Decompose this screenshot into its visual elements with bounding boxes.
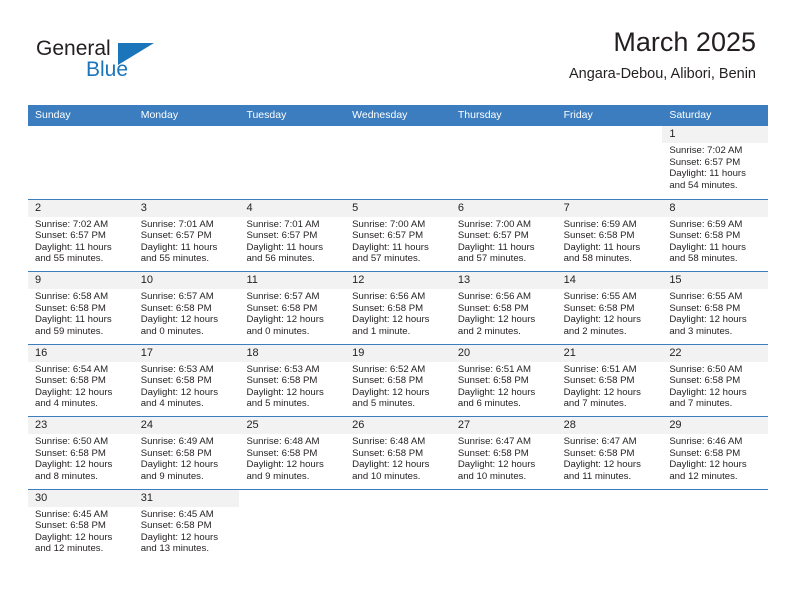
day-sun-info: Sunrise: 6:59 AMSunset: 6:58 PMDaylight:… [662,217,768,265]
weekday-header-saturday: Saturday [662,105,768,126]
sunset-text: Sunset: 6:58 PM [669,375,762,387]
calendar-day-cell-empty [662,490,768,571]
sunrise-text: Sunrise: 6:51 AM [564,364,657,376]
day-sun-info: Sunrise: 6:54 AMSunset: 6:58 PMDaylight:… [28,362,134,410]
daylight-text: Daylight: 12 hours and 7 minutes. [564,387,657,410]
day-number: 6 [451,200,557,217]
sunrise-text: Sunrise: 6:48 AM [352,436,445,448]
sunrise-text: Sunrise: 7:02 AM [669,145,762,157]
day-number: 19 [345,345,451,362]
daylight-text: Daylight: 11 hours and 54 minutes. [669,168,762,191]
day-sun-info: Sunrise: 7:00 AMSunset: 6:57 PMDaylight:… [345,217,451,265]
calendar-day-cell[interactable]: 31Sunrise: 6:45 AMSunset: 6:58 PMDayligh… [134,490,240,571]
day-number: 25 [239,417,345,434]
day-sun-info: Sunrise: 6:51 AMSunset: 6:58 PMDaylight:… [451,362,557,410]
daylight-text: Daylight: 12 hours and 0 minutes. [141,314,234,337]
day-sun-info: Sunrise: 7:01 AMSunset: 6:57 PMDaylight:… [134,217,240,265]
calendar-day-cell[interactable]: 23Sunrise: 6:50 AMSunset: 6:58 PMDayligh… [28,417,134,489]
day-number: 9 [28,272,134,289]
day-number [134,126,240,143]
day-sun-info: Sunrise: 6:50 AMSunset: 6:58 PMDaylight:… [662,362,768,410]
sunrise-text: Sunrise: 6:55 AM [669,291,762,303]
day-number: 3 [134,200,240,217]
sunrise-text: Sunrise: 6:50 AM [35,436,128,448]
day-sun-info: Sunrise: 7:02 AMSunset: 6:57 PMDaylight:… [662,143,768,191]
day-number: 14 [557,272,663,289]
calendar-week-row: 9Sunrise: 6:58 AMSunset: 6:58 PMDaylight… [28,271,768,344]
day-sun-info: Sunrise: 6:52 AMSunset: 6:58 PMDaylight:… [345,362,451,410]
day-number [345,490,451,507]
sunset-text: Sunset: 6:58 PM [564,375,657,387]
weekday-header-sunday: Sunday [28,105,134,126]
day-sun-info: Sunrise: 6:55 AMSunset: 6:58 PMDaylight:… [662,289,768,337]
day-sun-info: Sunrise: 6:57 AMSunset: 6:58 PMDaylight:… [134,289,240,337]
weekday-header-row: SundayMondayTuesdayWednesdayThursdayFrid… [28,105,768,126]
sunset-text: Sunset: 6:58 PM [35,303,128,315]
calendar-week-row: 23Sunrise: 6:50 AMSunset: 6:58 PMDayligh… [28,416,768,489]
calendar-day-cell[interactable]: 14Sunrise: 6:55 AMSunset: 6:58 PMDayligh… [557,272,663,344]
day-number: 23 [28,417,134,434]
calendar-day-cell[interactable]: 17Sunrise: 6:53 AMSunset: 6:58 PMDayligh… [134,345,240,417]
sunrise-text: Sunrise: 6:53 AM [246,364,339,376]
sunrise-text: Sunrise: 6:54 AM [35,364,128,376]
calendar-day-cell[interactable]: 1Sunrise: 7:02 AMSunset: 6:57 PMDaylight… [662,126,768,199]
sunrise-text: Sunrise: 7:01 AM [141,219,234,231]
sunset-text: Sunset: 6:58 PM [141,448,234,460]
sunset-text: Sunset: 6:58 PM [458,303,551,315]
calendar-weeks: 1Sunrise: 7:02 AMSunset: 6:57 PMDaylight… [28,126,768,571]
calendar-day-cell[interactable]: 8Sunrise: 6:59 AMSunset: 6:58 PMDaylight… [662,200,768,272]
sunset-text: Sunset: 6:58 PM [458,375,551,387]
calendar-day-cell[interactable]: 4Sunrise: 7:01 AMSunset: 6:57 PMDaylight… [239,200,345,272]
calendar-day-cell[interactable]: 24Sunrise: 6:49 AMSunset: 6:58 PMDayligh… [134,417,240,489]
sunrise-text: Sunrise: 6:52 AM [352,364,445,376]
day-sun-info: Sunrise: 6:45 AMSunset: 6:58 PMDaylight:… [28,507,134,555]
daylight-text: Daylight: 11 hours and 57 minutes. [458,242,551,265]
calendar-day-cell[interactable]: 26Sunrise: 6:48 AMSunset: 6:58 PMDayligh… [345,417,451,489]
day-number: 28 [557,417,663,434]
daylight-text: Daylight: 11 hours and 55 minutes. [35,242,128,265]
daylight-text: Daylight: 12 hours and 3 minutes. [669,314,762,337]
calendar-day-cell[interactable]: 5Sunrise: 7:00 AMSunset: 6:57 PMDaylight… [345,200,451,272]
calendar-page: General Blue March 2025 Angara-Debou, Al… [0,0,792,612]
calendar-day-cell[interactable]: 20Sunrise: 6:51 AMSunset: 6:58 PMDayligh… [451,345,557,417]
sunset-text: Sunset: 6:58 PM [246,303,339,315]
calendar-day-cell[interactable]: 18Sunrise: 6:53 AMSunset: 6:58 PMDayligh… [239,345,345,417]
sunset-text: Sunset: 6:57 PM [141,230,234,242]
day-number [557,490,663,507]
day-number: 2 [28,200,134,217]
day-number: 18 [239,345,345,362]
calendar-day-cell[interactable]: 29Sunrise: 6:46 AMSunset: 6:58 PMDayligh… [662,417,768,489]
calendar-day-cell-empty [28,126,134,199]
sunrise-text: Sunrise: 6:59 AM [669,219,762,231]
day-sun-info: Sunrise: 6:45 AMSunset: 6:58 PMDaylight:… [134,507,240,555]
sunrise-text: Sunrise: 6:49 AM [141,436,234,448]
calendar-week-row: 16Sunrise: 6:54 AMSunset: 6:58 PMDayligh… [28,344,768,417]
day-number: 30 [28,490,134,507]
calendar-week-row: 1Sunrise: 7:02 AMSunset: 6:57 PMDaylight… [28,126,768,199]
calendar-grid: SundayMondayTuesdayWednesdayThursdayFrid… [28,105,768,571]
day-sun-info: Sunrise: 6:48 AMSunset: 6:58 PMDaylight:… [345,434,451,482]
sunrise-text: Sunrise: 6:56 AM [458,291,551,303]
calendar-day-cell-empty [451,490,557,571]
day-number: 8 [662,200,768,217]
sunset-text: Sunset: 6:58 PM [458,448,551,460]
day-number: 4 [239,200,345,217]
calendar-day-cell[interactable]: 3Sunrise: 7:01 AMSunset: 6:57 PMDaylight… [134,200,240,272]
sunset-text: Sunset: 6:58 PM [141,375,234,387]
day-number: 7 [557,200,663,217]
daylight-text: Daylight: 12 hours and 13 minutes. [141,532,234,555]
daylight-text: Daylight: 12 hours and 9 minutes. [141,459,234,482]
sunset-text: Sunset: 6:58 PM [246,448,339,460]
calendar-day-cell-empty [557,126,663,199]
weekday-header-tuesday: Tuesday [239,105,345,126]
day-number [451,126,557,143]
day-number: 12 [345,272,451,289]
sunset-text: Sunset: 6:57 PM [669,157,762,169]
calendar-day-cell-empty [557,490,663,571]
sunrise-text: Sunrise: 6:56 AM [352,291,445,303]
calendar-day-cell[interactable]: 19Sunrise: 6:52 AMSunset: 6:58 PMDayligh… [345,345,451,417]
calendar-day-cell[interactable]: 2Sunrise: 7:02 AMSunset: 6:57 PMDaylight… [28,200,134,272]
sunrise-text: Sunrise: 6:45 AM [141,509,234,521]
day-number: 29 [662,417,768,434]
daylight-text: Daylight: 12 hours and 10 minutes. [352,459,445,482]
daylight-text: Daylight: 11 hours and 55 minutes. [141,242,234,265]
calendar-day-cell[interactable]: 11Sunrise: 6:57 AMSunset: 6:58 PMDayligh… [239,272,345,344]
daylight-text: Daylight: 12 hours and 5 minutes. [246,387,339,410]
day-number [239,490,345,507]
calendar-day-cell[interactable]: 6Sunrise: 7:00 AMSunset: 6:57 PMDaylight… [451,200,557,272]
calendar-day-cell[interactable]: 7Sunrise: 6:59 AMSunset: 6:58 PMDaylight… [557,200,663,272]
sunset-text: Sunset: 6:58 PM [669,448,762,460]
weekday-header-monday: Monday [134,105,240,126]
sunrise-text: Sunrise: 6:51 AM [458,364,551,376]
sunrise-text: Sunrise: 6:46 AM [669,436,762,448]
day-number: 24 [134,417,240,434]
sunset-text: Sunset: 6:58 PM [669,230,762,242]
calendar-week-row: 2Sunrise: 7:02 AMSunset: 6:57 PMDaylight… [28,199,768,272]
sunset-text: Sunset: 6:58 PM [35,448,128,460]
day-number: 13 [451,272,557,289]
day-sun-info: Sunrise: 7:00 AMSunset: 6:57 PMDaylight:… [451,217,557,265]
day-sun-info: Sunrise: 6:50 AMSunset: 6:58 PMDaylight:… [28,434,134,482]
sunrise-text: Sunrise: 6:58 AM [35,291,128,303]
weekday-header-thursday: Thursday [451,105,557,126]
day-number [662,490,768,507]
sunset-text: Sunset: 6:58 PM [141,520,234,532]
day-number [345,126,451,143]
daylight-text: Daylight: 12 hours and 9 minutes. [246,459,339,482]
calendar-day-cell[interactable]: 27Sunrise: 6:47 AMSunset: 6:58 PMDayligh… [451,417,557,489]
sunrise-text: Sunrise: 6:55 AM [564,291,657,303]
sunrise-text: Sunrise: 7:00 AM [352,219,445,231]
day-sun-info: Sunrise: 6:56 AMSunset: 6:58 PMDaylight:… [345,289,451,337]
day-number: 21 [557,345,663,362]
general-blue-logo[interactable]: General Blue [36,38,156,92]
calendar-day-cell[interactable]: 9Sunrise: 6:58 AMSunset: 6:58 PMDaylight… [28,272,134,344]
daylight-text: Daylight: 12 hours and 4 minutes. [35,387,128,410]
sunset-text: Sunset: 6:57 PM [35,230,128,242]
sunrise-text: Sunrise: 6:45 AM [35,509,128,521]
sunset-text: Sunset: 6:58 PM [141,303,234,315]
daylight-text: Daylight: 11 hours and 58 minutes. [669,242,762,265]
calendar-day-cell[interactable]: 28Sunrise: 6:47 AMSunset: 6:58 PMDayligh… [557,417,663,489]
sunset-text: Sunset: 6:58 PM [564,448,657,460]
day-number [557,126,663,143]
daylight-text: Daylight: 12 hours and 6 minutes. [458,387,551,410]
day-sun-info: Sunrise: 7:01 AMSunset: 6:57 PMDaylight:… [239,217,345,265]
calendar-day-cell[interactable]: 30Sunrise: 6:45 AMSunset: 6:58 PMDayligh… [28,490,134,571]
sunset-text: Sunset: 6:58 PM [564,230,657,242]
day-number: 5 [345,200,451,217]
sunrise-text: Sunrise: 7:01 AM [246,219,339,231]
sunrise-text: Sunrise: 6:57 AM [246,291,339,303]
day-number: 31 [134,490,240,507]
day-sun-info: Sunrise: 6:53 AMSunset: 6:58 PMDaylight:… [239,362,345,410]
day-number: 10 [134,272,240,289]
day-number: 26 [345,417,451,434]
sunset-text: Sunset: 6:58 PM [352,303,445,315]
day-sun-info: Sunrise: 6:56 AMSunset: 6:58 PMDaylight:… [451,289,557,337]
day-sun-info: Sunrise: 7:02 AMSunset: 6:57 PMDaylight:… [28,217,134,265]
day-number: 16 [28,345,134,362]
day-sun-info: Sunrise: 6:48 AMSunset: 6:58 PMDaylight:… [239,434,345,482]
page-title: March 2025 [569,28,756,58]
calendar-day-cell[interactable]: 22Sunrise: 6:50 AMSunset: 6:58 PMDayligh… [662,345,768,417]
logo-text-blue: Blue [86,59,128,80]
sunrise-text: Sunrise: 6:57 AM [141,291,234,303]
sunrise-text: Sunrise: 6:53 AM [141,364,234,376]
sunset-text: Sunset: 6:58 PM [669,303,762,315]
day-sun-info: Sunrise: 6:59 AMSunset: 6:58 PMDaylight:… [557,217,663,265]
daylight-text: Daylight: 11 hours and 59 minutes. [35,314,128,337]
daylight-text: Daylight: 12 hours and 4 minutes. [141,387,234,410]
sunset-text: Sunset: 6:58 PM [35,520,128,532]
day-sun-info: Sunrise: 6:47 AMSunset: 6:58 PMDaylight:… [451,434,557,482]
daylight-text: Daylight: 12 hours and 8 minutes. [35,459,128,482]
sunset-text: Sunset: 6:57 PM [246,230,339,242]
sunset-text: Sunset: 6:58 PM [35,375,128,387]
sunrise-text: Sunrise: 6:47 AM [564,436,657,448]
day-sun-info: Sunrise: 6:47 AMSunset: 6:58 PMDaylight:… [557,434,663,482]
sunset-text: Sunset: 6:57 PM [352,230,445,242]
day-number [28,126,134,143]
sunset-text: Sunset: 6:58 PM [246,375,339,387]
day-sun-info: Sunrise: 6:58 AMSunset: 6:58 PMDaylight:… [28,289,134,337]
sunrise-text: Sunrise: 6:50 AM [669,364,762,376]
sunrise-text: Sunrise: 7:00 AM [458,219,551,231]
day-number: 15 [662,272,768,289]
daylight-text: Daylight: 12 hours and 12 minutes. [35,532,128,555]
daylight-text: Daylight: 12 hours and 5 minutes. [352,387,445,410]
calendar-day-cell-empty [239,490,345,571]
day-number: 27 [451,417,557,434]
sunrise-text: Sunrise: 6:47 AM [458,436,551,448]
calendar-day-cell-empty [451,126,557,199]
calendar-day-cell-empty [134,126,240,199]
day-sun-info: Sunrise: 6:51 AMSunset: 6:58 PMDaylight:… [557,362,663,410]
sunrise-text: Sunrise: 7:02 AM [35,219,128,231]
sunrise-text: Sunrise: 6:59 AM [564,219,657,231]
day-sun-info: Sunrise: 6:46 AMSunset: 6:58 PMDaylight:… [662,434,768,482]
day-number: 11 [239,272,345,289]
daylight-text: Daylight: 11 hours and 56 minutes. [246,242,339,265]
daylight-text: Daylight: 11 hours and 57 minutes. [352,242,445,265]
day-sun-info: Sunrise: 6:57 AMSunset: 6:58 PMDaylight:… [239,289,345,337]
calendar-day-cell-empty [345,490,451,571]
sunrise-text: Sunrise: 6:48 AM [246,436,339,448]
calendar-day-cell[interactable]: 25Sunrise: 6:48 AMSunset: 6:58 PMDayligh… [239,417,345,489]
calendar-day-cell[interactable]: 10Sunrise: 6:57 AMSunset: 6:58 PMDayligh… [134,272,240,344]
day-sun-info: Sunrise: 6:53 AMSunset: 6:58 PMDaylight:… [134,362,240,410]
weekday-header-friday: Friday [557,105,663,126]
calendar-day-cell[interactable]: 12Sunrise: 6:56 AMSunset: 6:58 PMDayligh… [345,272,451,344]
daylight-text: Daylight: 12 hours and 2 minutes. [564,314,657,337]
daylight-text: Daylight: 12 hours and 7 minutes. [669,387,762,410]
daylight-text: Daylight: 11 hours and 58 minutes. [564,242,657,265]
calendar-day-cell[interactable]: 16Sunrise: 6:54 AMSunset: 6:58 PMDayligh… [28,345,134,417]
day-number: 17 [134,345,240,362]
daylight-text: Daylight: 12 hours and 0 minutes. [246,314,339,337]
day-number: 20 [451,345,557,362]
daylight-text: Daylight: 12 hours and 11 minutes. [564,459,657,482]
sunset-text: Sunset: 6:57 PM [458,230,551,242]
day-sun-info: Sunrise: 6:49 AMSunset: 6:58 PMDaylight:… [134,434,240,482]
daylight-text: Daylight: 12 hours and 2 minutes. [458,314,551,337]
day-sun-info: Sunrise: 6:55 AMSunset: 6:58 PMDaylight:… [557,289,663,337]
calendar-week-row: 30Sunrise: 6:45 AMSunset: 6:58 PMDayligh… [28,489,768,571]
sunset-text: Sunset: 6:58 PM [352,448,445,460]
day-number: 1 [662,126,768,143]
daylight-text: Daylight: 12 hours and 1 minute. [352,314,445,337]
location-subtitle: Angara-Debou, Alibori, Benin [569,66,756,83]
calendar-day-cell[interactable]: 21Sunrise: 6:51 AMSunset: 6:58 PMDayligh… [557,345,663,417]
daylight-text: Daylight: 12 hours and 12 minutes. [669,459,762,482]
sunset-text: Sunset: 6:58 PM [564,303,657,315]
logo-text-general: General [36,38,111,59]
daylight-text: Daylight: 12 hours and 10 minutes. [458,459,551,482]
day-number [451,490,557,507]
calendar-day-cell[interactable]: 13Sunrise: 6:56 AMSunset: 6:58 PMDayligh… [451,272,557,344]
page-header: General Blue March 2025 Angara-Debou, Al… [0,0,792,104]
sunset-text: Sunset: 6:58 PM [352,375,445,387]
calendar-day-cell-empty [345,126,451,199]
day-number [239,126,345,143]
day-number: 22 [662,345,768,362]
calendar-day-cell-empty [239,126,345,199]
weekday-header-wednesday: Wednesday [345,105,451,126]
calendar-day-cell[interactable]: 15Sunrise: 6:55 AMSunset: 6:58 PMDayligh… [662,272,768,344]
title-block: March 2025 Angara-Debou, Alibori, Benin [569,28,756,83]
